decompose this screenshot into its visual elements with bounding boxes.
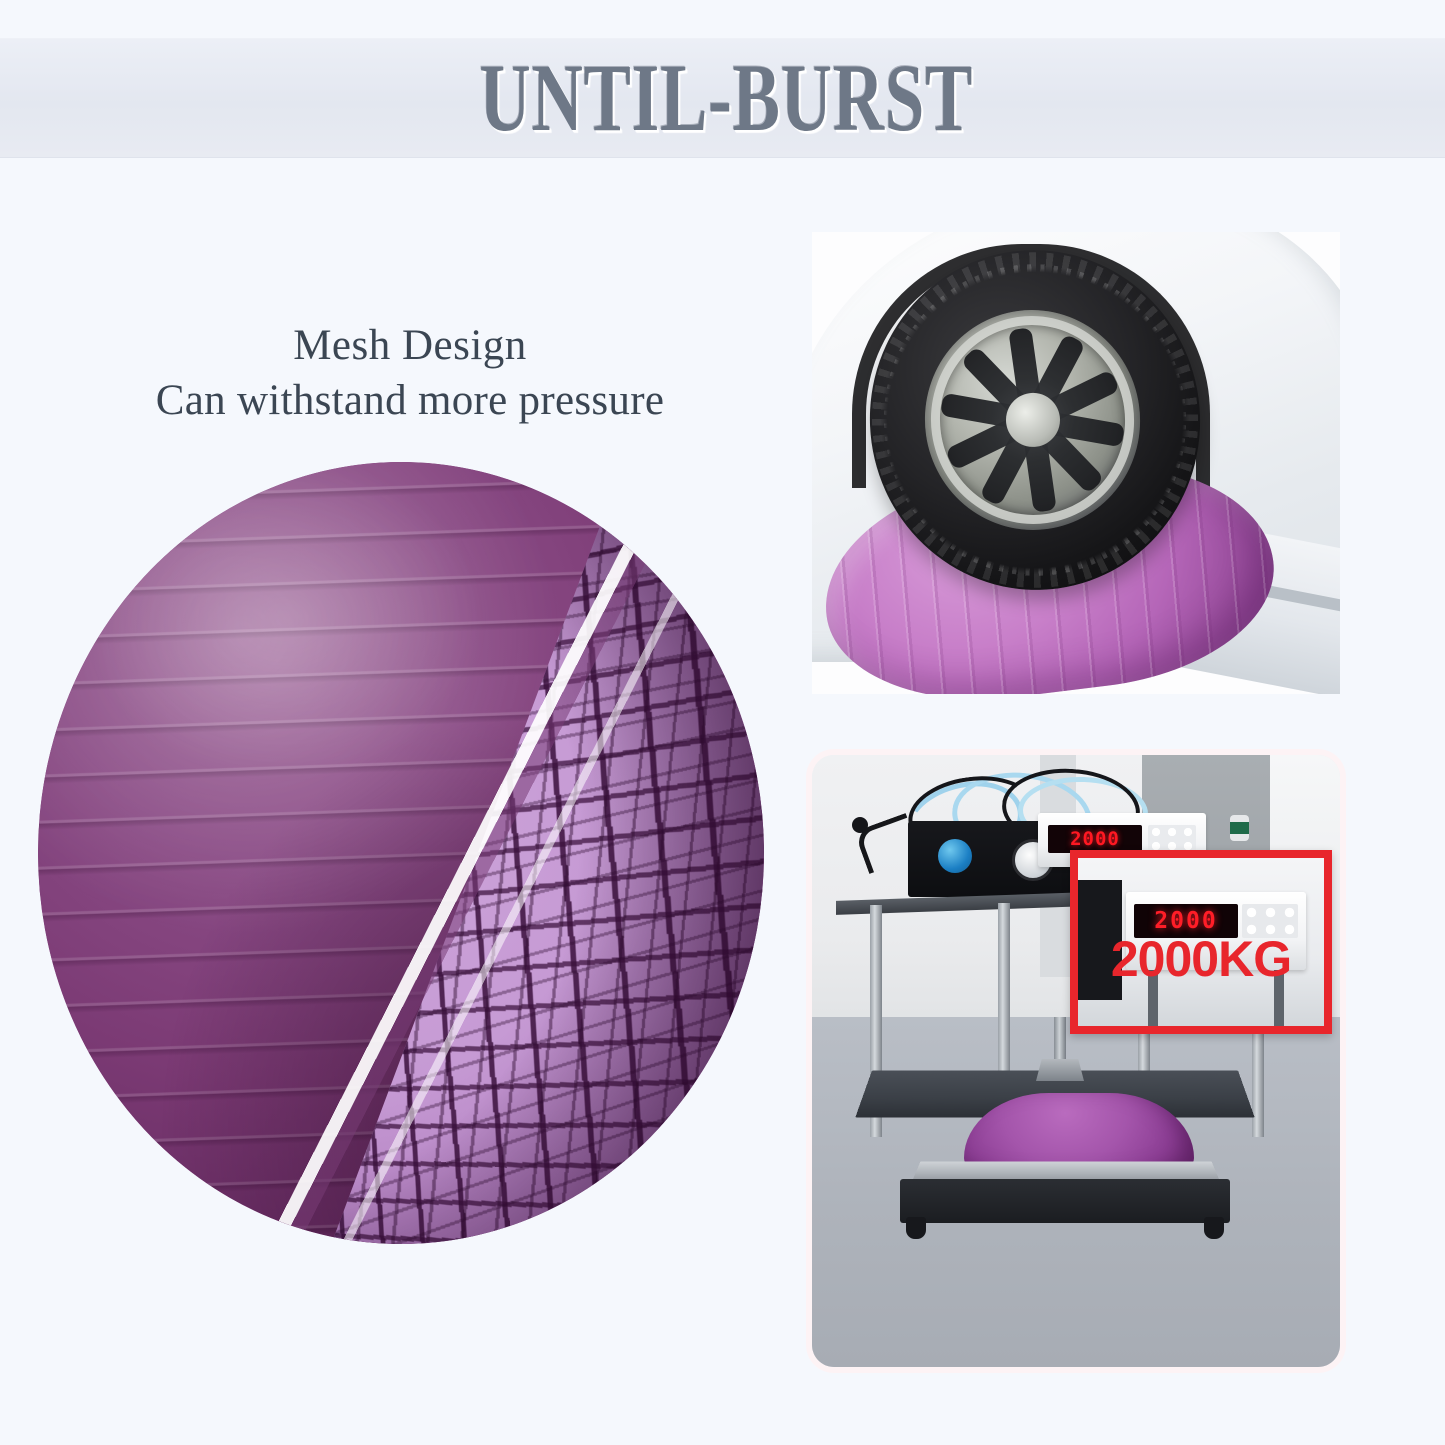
led-display-value: 2000: [1070, 828, 1120, 850]
photo-compression-test-machine: 2000 2000 2000KG: [812, 755, 1340, 1367]
zoom-callout-box: 2000 2000KG: [1070, 850, 1332, 1034]
weight-callout-label: 2000KG: [1078, 934, 1324, 984]
caption-line-1: Mesh Design: [60, 318, 760, 373]
blue-knob-icon: [938, 839, 972, 873]
indicator-keypad[interactable]: [1148, 825, 1196, 853]
photo-car-wheel-on-ball: [812, 232, 1340, 694]
page-title: UNTIL-BURST: [472, 50, 973, 146]
lever-knob-icon: [852, 817, 868, 833]
caption-line-2: Can withstand more pressure: [60, 373, 760, 428]
exercise-ball: [38, 462, 764, 1244]
led-display: 2000: [1048, 825, 1142, 853]
caster-wheel-left: [906, 1217, 926, 1239]
scale-base: [900, 1179, 1230, 1223]
feature-caption: Mesh Design Can withstand more pressure: [60, 318, 760, 428]
cutaway-ball-illustration: [38, 462, 764, 1244]
panel-green-button[interactable]: [1230, 815, 1249, 841]
header-banner: UNTIL-BURST: [0, 38, 1445, 158]
press-ram-foot: [1036, 1059, 1084, 1081]
caster-wheel-right: [1204, 1217, 1224, 1239]
infographic-page: UNTIL-BURST Mesh Design Can withstand mo…: [0, 0, 1445, 1445]
